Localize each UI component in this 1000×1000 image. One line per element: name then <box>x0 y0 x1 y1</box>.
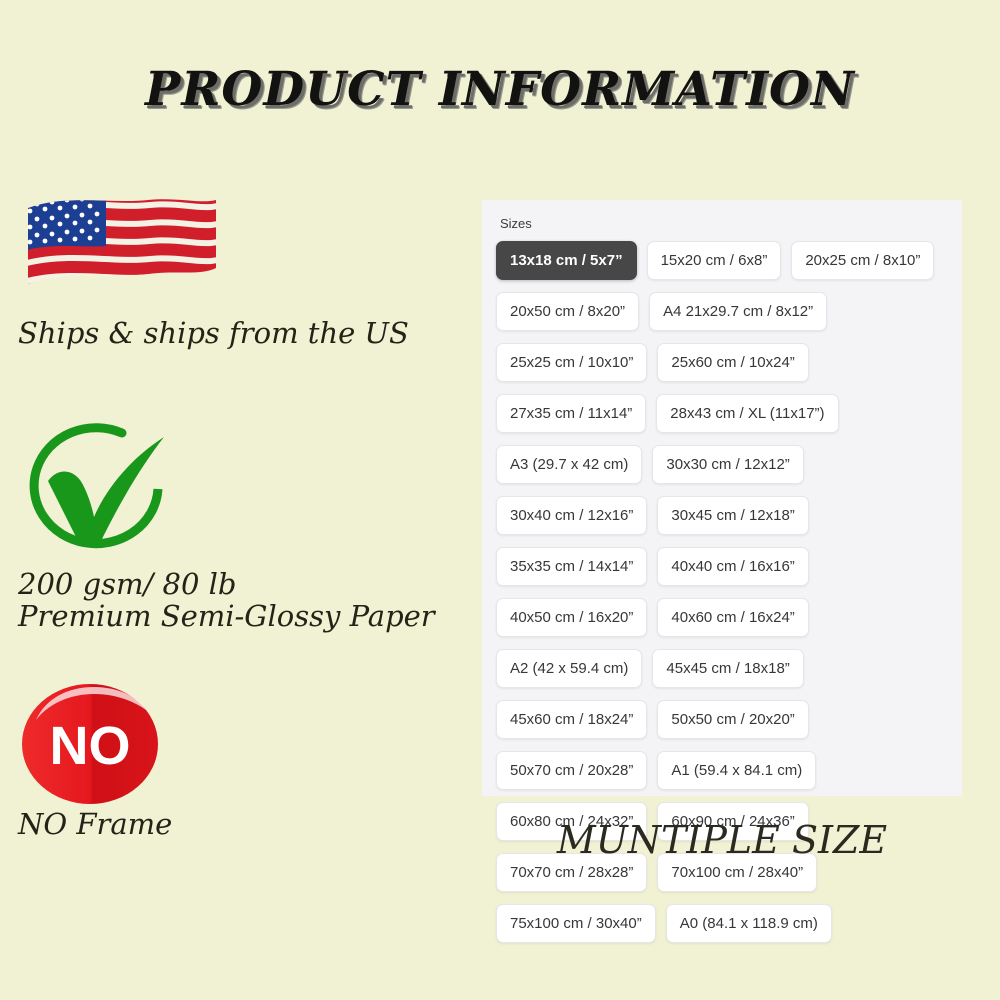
no-badge-text: NO <box>50 716 131 776</box>
page-title: PRODUCT INFORMATION <box>0 62 1000 117</box>
us-flag-icon <box>20 190 220 310</box>
size-option-chip[interactable]: 75x100 cm / 30x40” <box>496 904 656 943</box>
size-option-chip[interactable]: A3 (29.7 x 42 cm) <box>496 445 642 484</box>
size-option-chip[interactable]: 25x25 cm / 10x10” <box>496 343 647 382</box>
ships-from-us-label: Ships & ships from the US <box>18 318 476 349</box>
size-option-chip[interactable]: 45x45 cm / 18x18” <box>652 649 803 688</box>
no-frame-label: NO Frame <box>18 809 476 840</box>
size-option-chip[interactable]: 20x50 cm / 8x20” <box>496 292 639 331</box>
size-option-chip[interactable]: 45x60 cm / 18x24” <box>496 700 647 739</box>
sizes-panel: Sizes 13x18 cm / 5x7”15x20 cm / 6x8”20x2… <box>482 200 962 796</box>
size-option-chip[interactable]: 30x40 cm / 12x16” <box>496 496 647 535</box>
feature-ships-from-us: Ships & ships from the US <box>14 190 476 349</box>
size-option-chip[interactable]: A2 (42 x 59.4 cm) <box>496 649 642 688</box>
green-check-icon <box>18 411 186 563</box>
multiple-size-caption: MUNTIPLE SIZE <box>482 818 962 862</box>
size-option-chip[interactable]: 35x35 cm / 14x14” <box>496 547 647 586</box>
paper-type-line: Premium Semi-Glossy Paper <box>18 601 476 632</box>
size-option-chip[interactable]: 28x43 cm / XL (11x17”) <box>656 394 838 433</box>
size-option-chip[interactable]: A1 (59.4 x 84.1 cm) <box>657 751 816 790</box>
size-option-chip[interactable]: 20x25 cm / 8x10” <box>791 241 934 280</box>
size-option-chip[interactable]: 40x50 cm / 16x20” <box>496 598 647 637</box>
size-option-chip[interactable]: 50x50 cm / 20x20” <box>657 700 808 739</box>
size-option-chip[interactable]: A4 21x29.7 cm / 8x12” <box>649 292 827 331</box>
sizes-section-label: Sizes <box>500 216 948 231</box>
size-option-chip[interactable]: A0 (84.1 x 118.9 cm) <box>666 904 832 943</box>
size-option-chip[interactable]: 27x35 cm / 11x14” <box>496 394 646 433</box>
paper-spec-label: 200 gsm/ 80 lb Premium Semi-Glossy Paper <box>18 569 476 632</box>
size-option-chip[interactable]: 50x70 cm / 20x28” <box>496 751 647 790</box>
size-option-chip[interactable]: 30x45 cm / 12x18” <box>657 496 808 535</box>
feature-no-frame: NO NO Frame <box>14 682 476 840</box>
no-badge-icon: NO <box>20 682 160 807</box>
paper-weight-line: 200 gsm/ 80 lb <box>18 569 476 600</box>
size-option-chip[interactable]: 40x40 cm / 16x16” <box>657 547 808 586</box>
feature-list: Ships & ships from the US 200 gsm/ 80 lb… <box>14 190 476 840</box>
size-option-chip[interactable]: 25x60 cm / 10x24” <box>657 343 808 382</box>
size-option-chip[interactable]: 40x60 cm / 16x24” <box>657 598 808 637</box>
size-option-chip[interactable]: 30x30 cm / 12x12” <box>652 445 803 484</box>
feature-paper-quality: 200 gsm/ 80 lb Premium Semi-Glossy Paper <box>14 411 476 632</box>
size-option-chip[interactable]: 15x20 cm / 6x8” <box>647 241 782 280</box>
size-option-chip[interactable]: 13x18 cm / 5x7” <box>496 241 637 280</box>
